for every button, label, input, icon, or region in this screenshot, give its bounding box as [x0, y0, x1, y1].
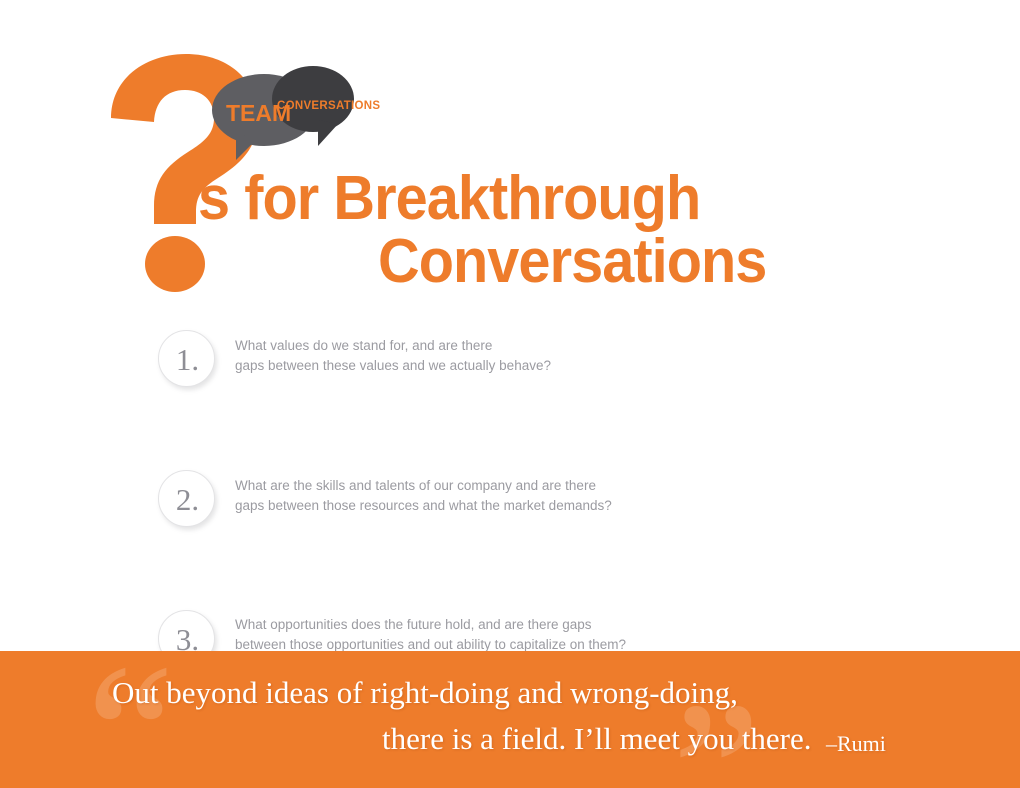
- list-item: 4. What is impossible for us to that, if…: [0, 522, 1020, 592]
- logo-title-block: TEAM CONVERSATIONS s for Breakthrough Co…: [0, 0, 1020, 300]
- quote-text-line-1: Out beyond ideas of right-doing and wron…: [112, 675, 738, 711]
- question-number-badge: 1.: [158, 330, 215, 387]
- poster-canvas: TEAM CONVERSATIONS s for Breakthrough Co…: [0, 0, 1020, 788]
- list-item: 2. What are the skills and talents of ou…: [0, 382, 1020, 452]
- list-item: 3. What opportunities does the future ho…: [0, 452, 1020, 522]
- page-title-line-1: s for Breakthrough: [198, 163, 700, 234]
- quote-attribution: –Rumi: [826, 731, 886, 757]
- quote-band: “ ” Out beyond ideas of right-doing and …: [0, 651, 1020, 788]
- page-title-line-2: Conversations: [378, 226, 766, 297]
- question-number: 1.: [176, 344, 199, 375]
- question-list: 1. What values do we stand for, and are …: [0, 312, 1020, 662]
- decorative-open-quote-icon: “: [86, 651, 175, 788]
- logo-label-conversations: CONVERSATIONS: [277, 100, 380, 112]
- question-text: What values do we stand for, and are the…: [235, 336, 551, 375]
- quote-text-line-2: there is a field. I’ll meet you there.: [382, 721, 812, 757]
- list-item: 1. What values do we stand for, and are …: [0, 312, 1020, 382]
